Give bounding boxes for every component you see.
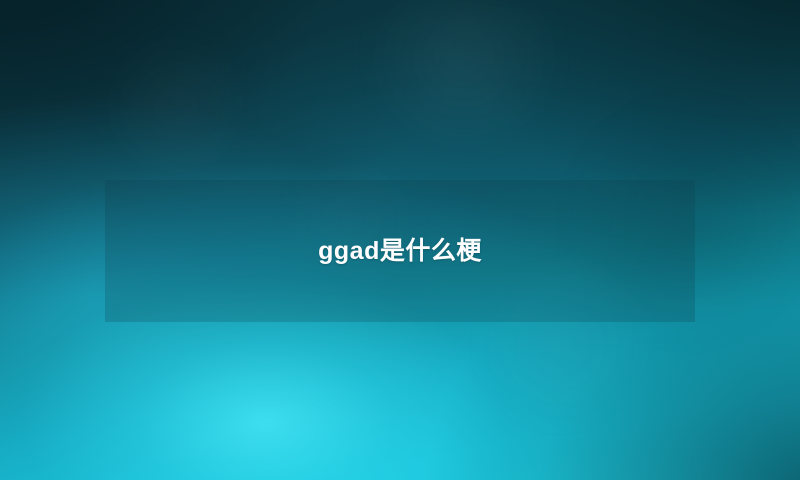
caption-banner: ggad是什么梗 xyxy=(105,180,695,322)
caption-title: ggad是什么梗 xyxy=(318,236,482,266)
screenshot-canvas: ggad是什么梗 xyxy=(0,0,800,480)
